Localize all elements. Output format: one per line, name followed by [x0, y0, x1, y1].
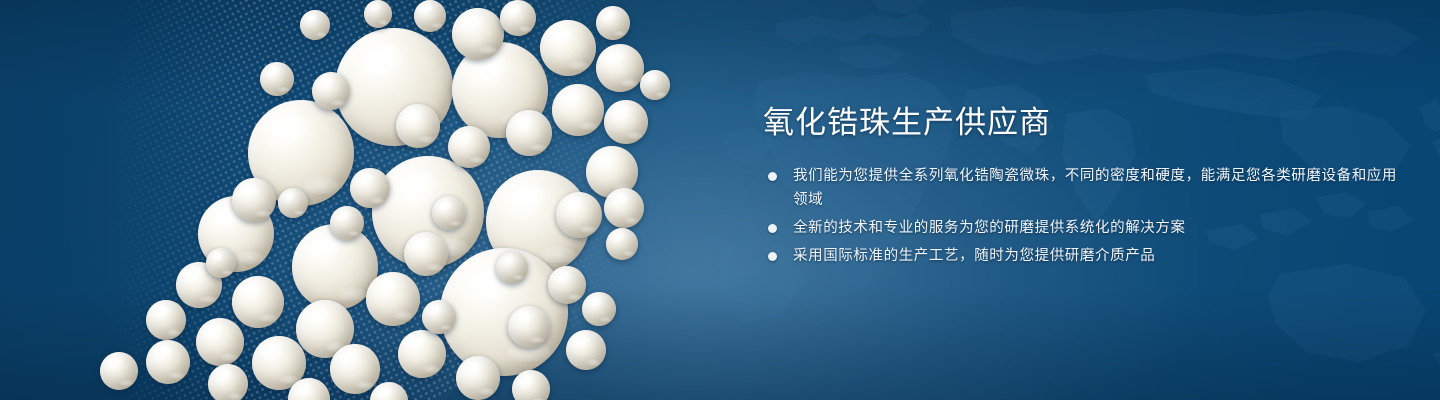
- bead: [206, 248, 236, 278]
- zirconia-beads-image: [0, 0, 720, 400]
- banner-copy: 氧化锆珠生产供应商 我们能为您提供全系列氧化锆陶瓷微珠，不同的密度和硬度，能满足…: [763, 104, 1403, 272]
- bead: [452, 8, 504, 60]
- feature-list: 我们能为您提供全系列氧化锆陶瓷微珠，不同的密度和硬度，能满足您各类研磨设备和应用…: [763, 164, 1403, 268]
- bead: [146, 340, 190, 384]
- bead: [260, 62, 294, 96]
- bead: [512, 370, 550, 400]
- bead: [566, 330, 606, 370]
- bead: [396, 104, 440, 148]
- bead: [312, 72, 350, 110]
- feature-text: 全新的技术和专业的服务为您的研磨提供系统化的解决方案: [793, 216, 1186, 240]
- bead: [508, 306, 550, 348]
- bead: [552, 84, 604, 136]
- feature-text: 我们能为您提供全系列氧化锆陶瓷微珠，不同的密度和硬度，能满足您各类研磨设备和应用…: [793, 164, 1403, 212]
- bead: [404, 232, 448, 276]
- bead: [196, 318, 244, 366]
- bead: [604, 100, 648, 144]
- bead: [422, 300, 456, 334]
- list-item: 采用国际标准的生产工艺，随时为您提供研磨介质产品: [763, 244, 1403, 268]
- bead: [556, 192, 602, 238]
- bead: [398, 330, 446, 378]
- bead: [548, 266, 586, 304]
- bead: [640, 70, 670, 100]
- bead: [366, 272, 420, 326]
- bead: [300, 10, 330, 40]
- bead: [448, 126, 490, 168]
- bead: [278, 188, 308, 218]
- bead: [370, 382, 408, 400]
- bead: [100, 352, 138, 390]
- hero-banner: 氧化锆珠生产供应商 我们能为您提供全系列氧化锆陶瓷微珠，不同的密度和硬度，能满足…: [0, 0, 1440, 400]
- bead: [506, 110, 552, 156]
- page-title: 氧化锆珠生产供应商: [763, 104, 1403, 142]
- bullet-dot-icon: [768, 252, 777, 261]
- bead: [364, 0, 392, 28]
- bullet-dot-icon: [768, 172, 777, 181]
- bead: [330, 344, 380, 394]
- bead: [232, 276, 284, 328]
- bead: [350, 168, 390, 208]
- bead: [540, 20, 596, 76]
- bead: [582, 292, 616, 326]
- bead: [596, 44, 644, 92]
- bead: [232, 178, 276, 222]
- list-item: 我们能为您提供全系列氧化锆陶瓷微珠，不同的密度和硬度，能满足您各类研磨设备和应用…: [763, 164, 1403, 212]
- bead: [208, 364, 248, 400]
- feature-text: 采用国际标准的生产工艺，随时为您提供研磨介质产品: [793, 244, 1155, 268]
- bead: [604, 188, 644, 228]
- bead: [596, 6, 630, 40]
- bead: [330, 206, 364, 240]
- bullet-dot-icon: [768, 224, 777, 233]
- bead: [432, 196, 466, 230]
- bead: [456, 356, 500, 400]
- bead: [496, 252, 528, 284]
- bead: [414, 0, 446, 32]
- bead: [500, 0, 536, 36]
- bead: [146, 300, 186, 340]
- list-item: 全新的技术和专业的服务为您的研磨提供系统化的解决方案: [763, 216, 1403, 240]
- bead: [606, 228, 638, 260]
